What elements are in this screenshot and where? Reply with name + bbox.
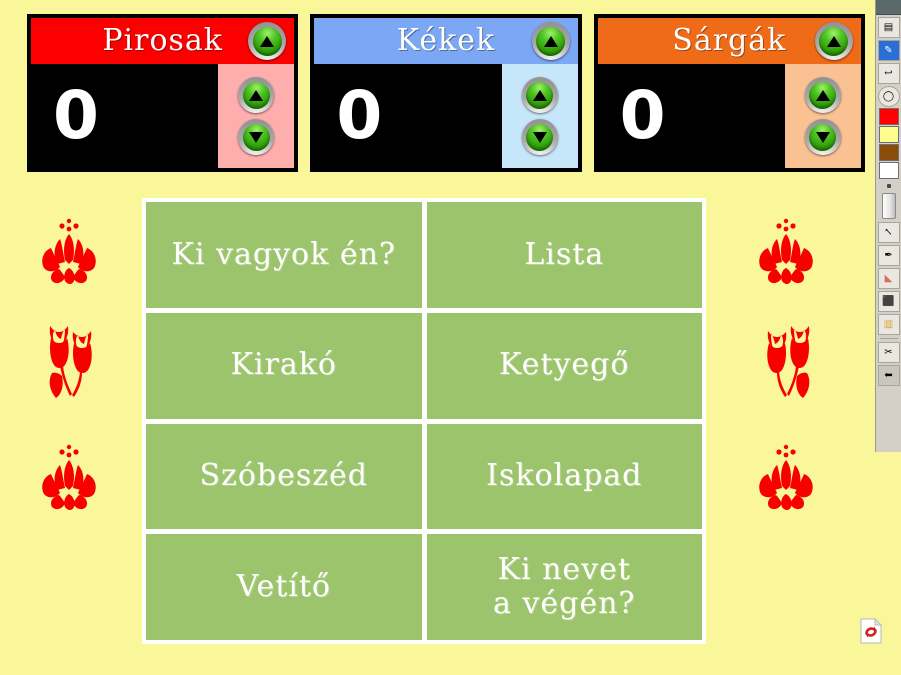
team-header-up-button[interactable] bbox=[815, 22, 853, 60]
team-header-sargak: Sárgák bbox=[598, 18, 861, 64]
menu-tile-ketyego[interactable]: Ketyegő bbox=[427, 313, 703, 419]
folk-flower-motif bbox=[755, 438, 817, 524]
team-header-pirosak: Pirosak bbox=[31, 18, 294, 64]
triangle-down-icon bbox=[809, 124, 836, 151]
folk-flower-motif bbox=[755, 212, 817, 298]
team-header-up-button[interactable] bbox=[532, 22, 570, 60]
refresh-document-icon[interactable] bbox=[858, 618, 884, 644]
team-panel-sargak: Sárgák 0 bbox=[594, 14, 865, 172]
team-name-label: Kékek bbox=[397, 26, 495, 56]
team-stepper-kekek bbox=[502, 64, 578, 168]
size-dot-icon[interactable] bbox=[887, 184, 891, 188]
toolbar-divider bbox=[880, 338, 898, 339]
folk-flower-motif bbox=[38, 212, 100, 298]
document-list-icon[interactable]: ▤ bbox=[878, 17, 900, 38]
menu-tile-ki-nevet-a-vegen[interactable]: Ki nevet a végén? bbox=[427, 534, 703, 640]
game-menu-grid: Ki vagyok én? Lista Kirakó Ketyegő Szóbe… bbox=[142, 198, 706, 644]
team-body-kekek: 0 bbox=[314, 64, 577, 168]
color-swatch-yellow[interactable] bbox=[879, 126, 899, 143]
score-decrement-button[interactable] bbox=[238, 119, 274, 155]
triangle-up-icon bbox=[243, 82, 270, 109]
team-score-value: 0 bbox=[31, 83, 99, 149]
triangle-up-icon bbox=[819, 27, 848, 56]
menu-tile-lista[interactable]: Lista bbox=[427, 202, 703, 308]
pointer-tool-icon[interactable]: ↖ bbox=[878, 222, 900, 243]
color-swatch-white[interactable] bbox=[879, 162, 899, 179]
triangle-up-icon bbox=[526, 82, 553, 109]
team-name-label: Sárgák bbox=[672, 26, 786, 56]
folk-tulip-motif bbox=[40, 318, 102, 404]
toolbox-icon[interactable]: ▥ bbox=[878, 314, 900, 335]
team-score-value: 0 bbox=[314, 83, 382, 149]
triangle-up-icon bbox=[809, 82, 836, 109]
team-header-up-button[interactable] bbox=[248, 22, 286, 60]
scissors-icon[interactable]: ✂ bbox=[878, 342, 900, 363]
team-score-value: 0 bbox=[598, 83, 666, 149]
menu-tile-kirako[interactable]: Kirakó bbox=[146, 313, 422, 419]
triangle-down-icon bbox=[243, 124, 270, 151]
team-header-kekek: Kékek bbox=[314, 18, 577, 64]
shape-ellipse-icon[interactable]: ◯ bbox=[878, 86, 900, 107]
undo-arrow-icon[interactable]: ↩ bbox=[878, 63, 900, 84]
triangle-up-icon bbox=[536, 27, 565, 56]
score-increment-button[interactable] bbox=[238, 77, 274, 113]
folk-tulip-motif bbox=[757, 318, 819, 404]
menu-tile-ki-vagyok-en[interactable]: Ki vagyok én? bbox=[146, 202, 422, 308]
menu-tile-vetito[interactable]: Vetítő bbox=[146, 534, 422, 640]
eraser-tool-icon[interactable]: ◣ bbox=[878, 268, 900, 289]
triangle-down-icon bbox=[526, 124, 553, 151]
score-increment-button[interactable] bbox=[522, 77, 558, 113]
color-swatch-brown[interactable] bbox=[879, 144, 899, 161]
pen-highlight-icon[interactable]: ✎ bbox=[878, 40, 900, 61]
back-arrow-icon[interactable]: ⬅ bbox=[878, 365, 900, 386]
score-increment-button[interactable] bbox=[805, 77, 841, 113]
team-stepper-pirosak bbox=[218, 64, 294, 168]
folk-flower-motif bbox=[38, 438, 100, 524]
pen-tool-icon[interactable]: ✒ bbox=[878, 245, 900, 266]
shapes-tool-icon[interactable]: ⬛ bbox=[878, 291, 900, 312]
team-stepper-sargak bbox=[785, 64, 861, 168]
team-panel-pirosak: Pirosak 0 bbox=[27, 14, 298, 172]
team-name-label: Pirosak bbox=[102, 26, 223, 56]
team-body-pirosak: 0 bbox=[31, 64, 294, 168]
triangle-up-icon bbox=[253, 27, 282, 56]
score-decrement-button[interactable] bbox=[805, 119, 841, 155]
team-body-sargak: 0 bbox=[598, 64, 861, 168]
team-panel-kekek: Kékek 0 bbox=[310, 14, 581, 172]
toolbar-title-cap bbox=[876, 0, 901, 15]
menu-tile-iskolapad[interactable]: Iskolapad bbox=[427, 424, 703, 530]
color-swatch-red[interactable] bbox=[879, 108, 899, 125]
thickness-slider[interactable] bbox=[882, 193, 896, 219]
side-toolbar: ▤ ✎ ↩ ◯ ↖ ✒ ◣ ⬛ ▥ ✂ ⬅ bbox=[875, 0, 901, 452]
scoreboard: Pirosak 0 Kékek 0 bbox=[27, 14, 865, 172]
menu-tile-szobeszed[interactable]: Szóbeszéd bbox=[146, 424, 422, 530]
score-decrement-button[interactable] bbox=[522, 119, 558, 155]
